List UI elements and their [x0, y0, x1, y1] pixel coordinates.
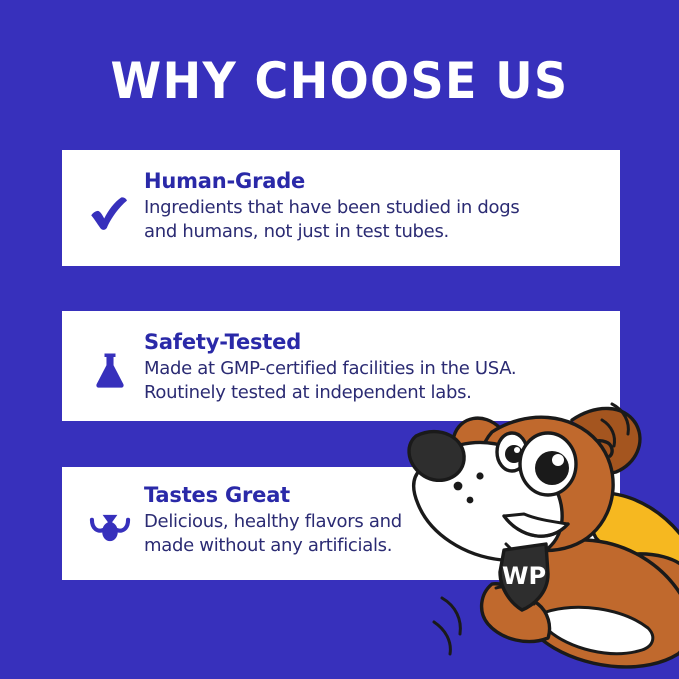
feature-text-block: Safety-Tested Made at GMP-certified faci… — [144, 330, 610, 405]
front-paw — [482, 584, 550, 642]
dog-tongue-icon — [82, 500, 138, 556]
feature-heading: Safety-Tested — [144, 330, 610, 354]
promo-banner: WHY CHOOSE US Human-Grade Ingredients th… — [0, 0, 679, 679]
feature-heading: Tastes Great — [144, 483, 610, 507]
feature-card-human-grade: Human-Grade Ingredients that have been s… — [62, 150, 620, 266]
feature-text-block: Tastes Great Delicious, healthy flavors … — [144, 483, 610, 558]
page-title: WHY CHOOSE US — [27, 56, 652, 106]
checkmark-icon — [82, 186, 138, 242]
feature-card-tastes-great: Tastes Great Delicious, healthy flavors … — [62, 467, 620, 580]
feature-body: Made at GMP-certified facilities in the … — [144, 357, 610, 405]
feature-text-block: Human-Grade Ingredients that have been s… — [144, 169, 610, 244]
feature-heading: Human-Grade — [144, 169, 610, 193]
feature-body: Ingredients that have been studied in do… — [144, 196, 610, 244]
feature-body: Delicious, healthy flavors and made with… — [144, 510, 610, 558]
flask-icon — [82, 342, 138, 398]
feature-card-safety-tested: Safety-Tested Made at GMP-certified faci… — [62, 311, 620, 421]
